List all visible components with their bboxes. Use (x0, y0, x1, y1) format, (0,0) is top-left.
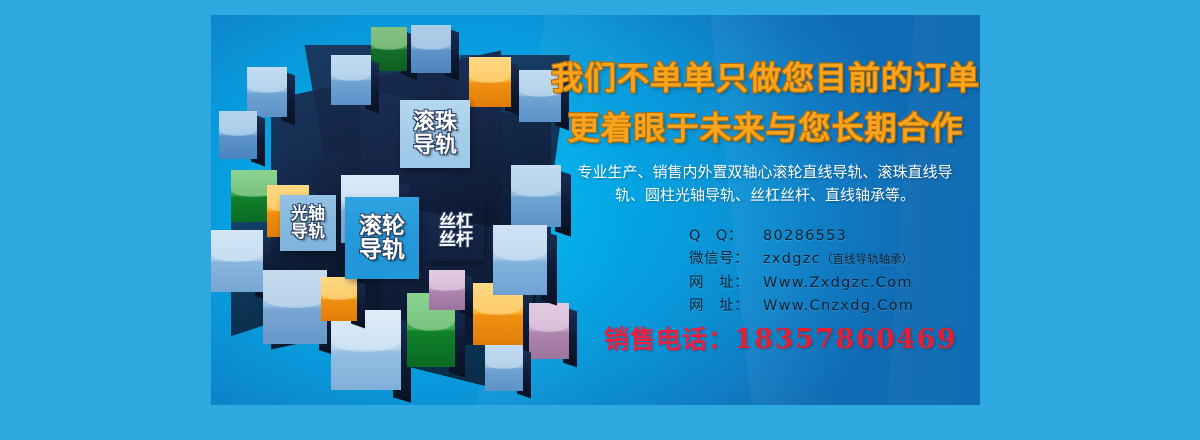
decorative-cube (263, 270, 329, 344)
contact-value[interactable]: zxdgzc (763, 248, 821, 271)
decorative-cube (331, 310, 403, 390)
contact-value[interactable]: Www.Zxdgzc.Com (763, 272, 913, 295)
company-description: 专业生产、销售内外置双轴心滚轮直线导轨、滚珠直线导轨、圆柱光轴导轨、丝杠丝杆、直… (563, 161, 967, 208)
decorative-cube (411, 25, 453, 73)
product-label-guangzhou-daogui[interactable]: 光轴 导轨 (280, 195, 336, 251)
product-label-gunzhu-daogui[interactable]: 滚珠 导轨 (400, 100, 470, 168)
product-label-gunlun-daogui[interactable]: 滚轮 导轨 (345, 197, 419, 279)
contact-key: 网 址： (689, 272, 763, 295)
page-root: 滚珠 导轨 光轴 导轨 滚轮 导轨 丝杠 丝杆 我们不单单只做您目前的订单 更着… (0, 0, 1200, 440)
product-label-line1: 光轴 (291, 205, 325, 223)
contact-note: （直线导轨轴承） (821, 250, 913, 269)
decorative-cube (211, 230, 265, 292)
decorative-cube (247, 67, 289, 117)
product-label-line1: 滚珠 (413, 111, 457, 134)
product-label-line2: 导轨 (359, 238, 405, 262)
sales-phone-label: 销售电话： (604, 325, 734, 354)
product-label-line2: 丝杆 (439, 231, 473, 249)
sales-phone-number[interactable]: 18357860469 (734, 324, 957, 355)
contact-key: 网 址： (689, 295, 763, 318)
product-label-line2: 导轨 (291, 223, 325, 241)
product-label-sigang-sigan[interactable]: 丝杠 丝杆 (428, 201, 484, 261)
contact-row-qq: Q Q： 80286553 (689, 225, 914, 248)
decorative-cube (321, 277, 359, 321)
contact-info-list: Q Q： 80286553 微信号： zxdgzc （直线导轨轴承） 网 址： … (689, 225, 914, 319)
banner-text-content: 我们不单单只做您目前的订单 更着眼于未来与您长期合作 专业生产、销售内外置双轴心… (551, 15, 980, 405)
contact-key: Q Q： (689, 225, 763, 248)
contact-row-website-1: 网 址： Www.Zxdgzc.Com (689, 272, 914, 295)
headline-line-2: 更着眼于未来与您长期合作 (551, 103, 980, 149)
promo-banner: 滚珠 导轨 光轴 导轨 滚轮 导轨 丝杠 丝杆 我们不单单只做您目前的订单 更着… (211, 15, 980, 405)
contact-value[interactable]: 80286553 (763, 225, 847, 248)
cube-cluster-graphic: 滚珠 导轨 光轴 导轨 滚轮 导轨 丝杠 丝杆 (211, 15, 571, 405)
contact-row-website-2: 网 址： Www.Cnzxdg.Com (689, 295, 914, 318)
decorative-cube (485, 345, 525, 391)
product-label-line1: 滚轮 (359, 214, 405, 238)
contact-row-wechat: 微信号： zxdgzc （直线导轨轴承） (689, 248, 914, 271)
decorative-cube (219, 111, 259, 159)
sales-phone: 销售电话：18357860469 (604, 320, 957, 356)
product-label-line2: 导轨 (413, 134, 457, 157)
decorative-cube (469, 57, 513, 107)
decorative-cube (493, 225, 549, 295)
product-label-line1: 丝杠 (439, 213, 473, 231)
headline-line-1: 我们不单单只做您目前的订单 (551, 53, 980, 99)
decorative-cube (429, 270, 467, 310)
decorative-cube (331, 55, 373, 105)
contact-key: 微信号： (689, 248, 763, 271)
contact-value[interactable]: Www.Cnzxdg.Com (763, 295, 914, 318)
